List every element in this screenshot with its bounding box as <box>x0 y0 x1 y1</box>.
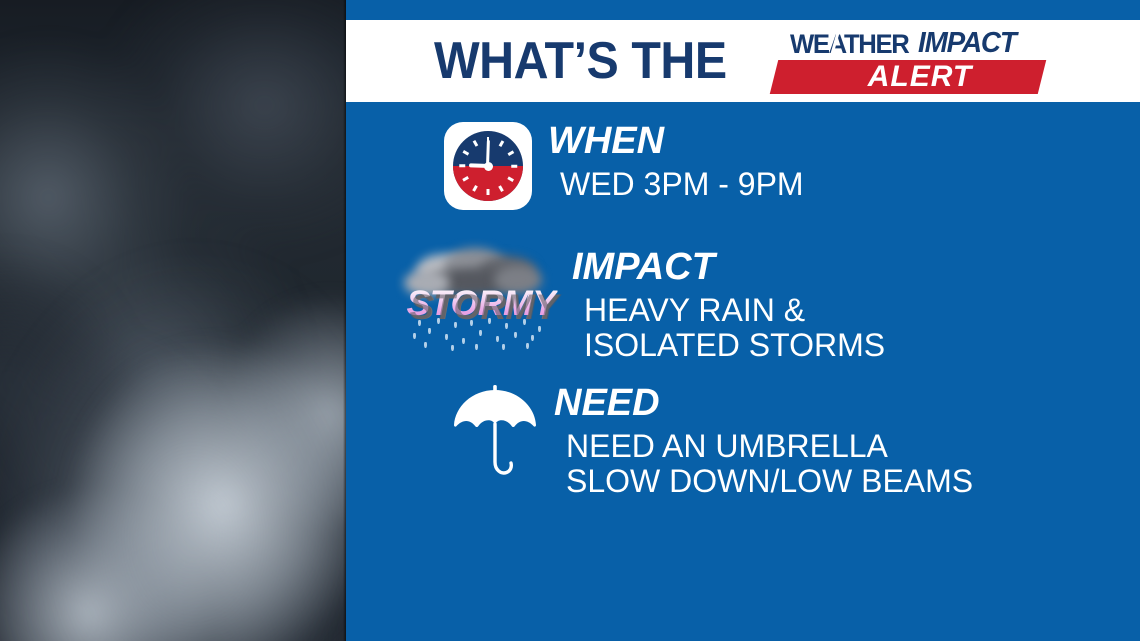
umbrella-finial <box>493 385 497 394</box>
umbrella-handle <box>495 424 511 473</box>
logo-alert-text: ALERT <box>774 60 1042 94</box>
impact-detail: HEAVY RAIN & ISOLATED STORMS <box>572 293 885 363</box>
impact-detail-line-1: HEAVY RAIN & <box>584 293 885 328</box>
impact-detail-line-2: ISOLATED STORMS <box>584 328 885 363</box>
logo-impact-text: IMPACT <box>918 27 1016 60</box>
row-when: WHEN WED 3PM - 9PM <box>444 122 804 210</box>
when-heading: WHEN <box>548 122 804 160</box>
page-title: WHAT’S THE <box>434 31 749 91</box>
storm-clouds-photo <box>0 0 346 641</box>
umbrella-icon-svg <box>452 384 538 482</box>
cloud-layer-glow <box>0 0 346 641</box>
when-text-block: WHEN WED 3PM - 9PM <box>548 122 804 202</box>
row-impact: STORMY STORMY <box>404 248 885 363</box>
stormy-word: STORMY <box>405 284 558 324</box>
impact-text-block: IMPACT HEAVY RAIN & ISOLATED STORMS <box>572 248 885 363</box>
clock-icon-body <box>444 122 532 210</box>
header-band: WHAT’S THE WEATHER IMPACT ALERT ? <box>346 20 1140 102</box>
stormy-clouds-icon: STORMY STORMY <box>404 248 556 352</box>
logo-weather-text: WEATHER <box>790 29 908 60</box>
weather-impact-alert-logo: WEATHER IMPACT ALERT <box>774 28 1042 94</box>
impact-heading: IMPACT <box>572 248 885 286</box>
need-detail: NEED AN UMBRELLA SLOW DOWN/LOW BEAMS <box>554 429 973 499</box>
umbrella-canopy <box>454 390 536 427</box>
when-detail: WED 3PM - 9PM <box>548 167 804 202</box>
stormy-icon-body: STORMY STORMY <box>404 248 556 352</box>
clock-icon <box>444 122 532 210</box>
weather-impact-alert-graphic: WHAT’S THE WEATHER IMPACT ALERT ? <box>0 0 1140 641</box>
page-title-text: WHAT’S THE <box>434 31 727 91</box>
clock-center-pin <box>484 162 493 171</box>
row-need: NEED NEED AN UMBRELLA SLOW DOWN/LOW BEAM… <box>452 384 973 499</box>
when-detail-line-1: WED 3PM - 9PM <box>560 167 804 202</box>
need-heading: NEED <box>554 384 973 422</box>
need-detail-line-2: SLOW DOWN/LOW BEAMS <box>566 464 973 499</box>
logo-top-row: WEATHER IMPACT <box>790 28 1042 60</box>
clock-face <box>453 131 523 201</box>
need-detail-line-1: NEED AN UMBRELLA <box>566 429 973 464</box>
need-text-block: NEED NEED AN UMBRELLA SLOW DOWN/LOW BEAM… <box>554 384 973 499</box>
umbrella-icon <box>452 384 538 487</box>
